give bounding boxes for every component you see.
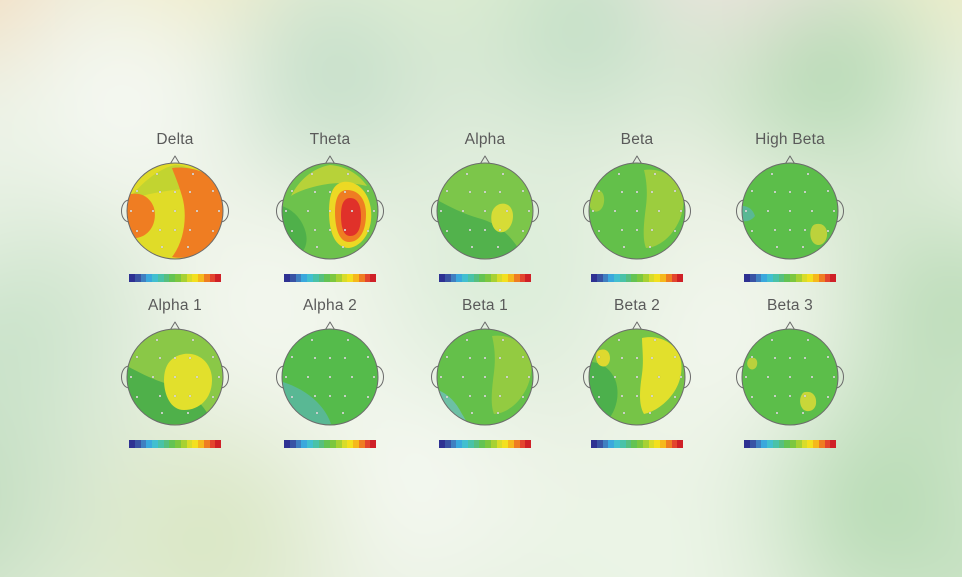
eeg-topomap-page: DeltaThetaAlphaBetaHigh BetaAlpha 1Alpha… bbox=[0, 0, 962, 577]
electrode-dot-f4 bbox=[189, 357, 191, 359]
electrode-dot-t5 bbox=[751, 396, 753, 398]
electrode-dot-f3 bbox=[469, 191, 471, 193]
electrode-dot-f4 bbox=[499, 357, 501, 359]
electrode-dot-o1 bbox=[316, 412, 318, 414]
electrode-dot-fp1 bbox=[466, 339, 468, 341]
electrode-dot-t4 bbox=[218, 376, 220, 378]
topomap-head-high-beta bbox=[731, 152, 849, 270]
electrode-dot-cz bbox=[329, 210, 331, 212]
electrode-dot-t3 bbox=[592, 210, 594, 212]
electrode-dot-t4 bbox=[528, 210, 530, 212]
electrode-dot-t5 bbox=[598, 396, 600, 398]
electrode-dot-pz bbox=[484, 395, 486, 397]
electrode-dot-t3 bbox=[285, 210, 287, 212]
electrode-dot-f7 bbox=[291, 356, 293, 358]
electrode-dot-c4 bbox=[196, 210, 198, 212]
electrode-dot-t4 bbox=[833, 376, 835, 378]
electrode-dot-t6 bbox=[367, 230, 369, 232]
electrode-dot-f4 bbox=[344, 191, 346, 193]
electrode-dot-t5 bbox=[446, 230, 448, 232]
electrode-dot-p4 bbox=[344, 395, 346, 397]
electrode-dot-f4 bbox=[804, 357, 806, 359]
electrode-dot-o2 bbox=[497, 412, 499, 414]
topomap-cell-beta-3[interactable]: Beta 3 bbox=[710, 297, 870, 448]
electrode-dot-t5 bbox=[291, 396, 293, 398]
electrode-dot-t6 bbox=[522, 230, 524, 232]
electrode-dot-t5 bbox=[136, 230, 138, 232]
electrode-dot-fp1 bbox=[618, 173, 620, 175]
electrode-dot-f7 bbox=[291, 190, 293, 192]
electrode-dot-cz bbox=[636, 376, 638, 378]
electrode-dot-c4 bbox=[811, 376, 813, 378]
electrode-dot-t6 bbox=[212, 230, 214, 232]
electrode-dot-o2 bbox=[187, 246, 189, 248]
electrode-dot-c3 bbox=[462, 210, 464, 212]
electrode-dot-pz bbox=[174, 229, 176, 231]
electrode-dot-c4 bbox=[351, 210, 353, 212]
electrode-dot-f7 bbox=[136, 190, 138, 192]
colorbar-step-15 bbox=[830, 440, 836, 448]
topomap-title-beta: Beta bbox=[557, 131, 717, 149]
electrode-dot-fp1 bbox=[311, 339, 313, 341]
electrode-dot-f8 bbox=[367, 190, 369, 192]
electrode-dot-t3 bbox=[745, 376, 747, 378]
colorbar-beta bbox=[591, 274, 683, 282]
electrode-dot-fz bbox=[329, 191, 331, 193]
colorbar-beta-1 bbox=[439, 440, 531, 448]
topomap-head-wrap-beta bbox=[578, 152, 696, 270]
electrode-dot-o1 bbox=[776, 246, 778, 248]
electrode-dot-p3 bbox=[469, 229, 471, 231]
electrode-dot-p4 bbox=[651, 395, 653, 397]
electrode-dot-f7 bbox=[598, 190, 600, 192]
electrode-dot-f4 bbox=[189, 191, 191, 193]
topomap-title-alpha: Alpha bbox=[405, 131, 565, 149]
colorbar-theta bbox=[284, 274, 376, 282]
electrode-dot-o1 bbox=[316, 246, 318, 248]
electrode-dot-f4 bbox=[499, 191, 501, 193]
electrode-dot-fp1 bbox=[466, 173, 468, 175]
electrode-dot-t5 bbox=[291, 230, 293, 232]
electrode-dot-fz bbox=[484, 191, 486, 193]
electrode-dot-f4 bbox=[344, 357, 346, 359]
topomap-title-theta: Theta bbox=[250, 131, 410, 149]
electrode-dot-p3 bbox=[469, 395, 471, 397]
electrode-dot-t4 bbox=[680, 210, 682, 212]
electrode-dot-o2 bbox=[187, 412, 189, 414]
topomap-head-beta bbox=[578, 152, 696, 270]
electrode-dot-pz bbox=[484, 229, 486, 231]
electrode-dot-p3 bbox=[314, 229, 316, 231]
colorbar-step-15 bbox=[370, 440, 376, 448]
electrode-dot-cz bbox=[636, 210, 638, 212]
electrode-dot-fz bbox=[174, 191, 176, 193]
colorbar-alpha-1 bbox=[129, 440, 221, 448]
electrode-dot-f7 bbox=[136, 356, 138, 358]
electrode-dot-fp2 bbox=[807, 339, 809, 341]
electrode-dot-t3 bbox=[745, 210, 747, 212]
electrode-dot-c3 bbox=[462, 376, 464, 378]
electrode-dot-fp2 bbox=[502, 339, 504, 341]
electrode-dot-p4 bbox=[344, 229, 346, 231]
electrode-dot-p3 bbox=[159, 229, 161, 231]
electrode-dot-t5 bbox=[598, 230, 600, 232]
electrode-dot-f4 bbox=[804, 191, 806, 193]
electrode-dot-t6 bbox=[674, 396, 676, 398]
electrode-dot-f8 bbox=[522, 356, 524, 358]
electrode-dot-p4 bbox=[651, 229, 653, 231]
electrode-dot-cz bbox=[484, 376, 486, 378]
topomap-head-wrap-beta-1 bbox=[426, 318, 544, 436]
field-region-right-parietal-spot bbox=[800, 392, 816, 411]
electrode-dot-f3 bbox=[314, 357, 316, 359]
electrode-dot-f3 bbox=[621, 191, 623, 193]
electrode-dot-p3 bbox=[159, 395, 161, 397]
topomap-cell-theta[interactable]: Theta bbox=[250, 131, 410, 282]
topomap-cell-beta-1[interactable]: Beta 1 bbox=[405, 297, 565, 448]
electrode-dot-o2 bbox=[649, 412, 651, 414]
topomap-head-alpha bbox=[426, 152, 544, 270]
electrode-dot-pz bbox=[329, 229, 331, 231]
electrode-dot-fp2 bbox=[192, 339, 194, 341]
electrode-dot-cz bbox=[789, 376, 791, 378]
electrode-dot-t3 bbox=[440, 376, 442, 378]
electrode-dot-cz bbox=[484, 210, 486, 212]
electrode-dot-o2 bbox=[342, 246, 344, 248]
electrode-dot-t6 bbox=[522, 396, 524, 398]
topomap-head-wrap-beta-2 bbox=[578, 318, 696, 436]
topomap-cell-delta[interactable]: Delta bbox=[95, 131, 255, 282]
electrode-dot-p3 bbox=[621, 395, 623, 397]
electrode-dot-cz bbox=[174, 376, 176, 378]
electrode-dot-f4 bbox=[651, 191, 653, 193]
electrode-dot-f3 bbox=[621, 357, 623, 359]
electrode-dot-o1 bbox=[471, 412, 473, 414]
colorbar-step-15 bbox=[215, 274, 221, 282]
electrode-dot-f8 bbox=[522, 190, 524, 192]
electrode-dot-fp1 bbox=[618, 339, 620, 341]
topomap-title-high-beta: High Beta bbox=[710, 131, 870, 149]
electrode-dot-f4 bbox=[651, 357, 653, 359]
electrode-dot-t6 bbox=[212, 396, 214, 398]
colorbar-high-beta bbox=[744, 274, 836, 282]
electrode-dot-c3 bbox=[307, 210, 309, 212]
electrode-dot-fz bbox=[484, 357, 486, 359]
topomap-title-beta-1: Beta 1 bbox=[405, 297, 565, 315]
electrode-dot-fp2 bbox=[347, 173, 349, 175]
topomap-head-wrap-beta-3 bbox=[731, 318, 849, 436]
electrode-dot-t5 bbox=[136, 396, 138, 398]
topomap-head-wrap-alpha-1 bbox=[116, 318, 234, 436]
electrode-dot-t6 bbox=[674, 230, 676, 232]
electrode-dot-f7 bbox=[751, 190, 753, 192]
electrode-dot-c3 bbox=[152, 376, 154, 378]
electrode-dot-o1 bbox=[776, 412, 778, 414]
scalp-field-beta-2 bbox=[586, 329, 685, 425]
electrode-dot-t3 bbox=[592, 376, 594, 378]
electrode-dot-f3 bbox=[469, 357, 471, 359]
electrode-dot-fp2 bbox=[654, 173, 656, 175]
electrode-dot-o1 bbox=[471, 246, 473, 248]
colorbar-step-15 bbox=[370, 274, 376, 282]
electrode-dot-cz bbox=[789, 210, 791, 212]
electrode-dot-pz bbox=[174, 395, 176, 397]
electrode-dot-fp2 bbox=[192, 173, 194, 175]
topomap-cell-alpha-1[interactable]: Alpha 1 bbox=[95, 297, 255, 448]
electrode-dot-t4 bbox=[373, 376, 375, 378]
electrode-dot-p4 bbox=[804, 229, 806, 231]
electrode-dot-fz bbox=[789, 191, 791, 193]
electrode-dot-f7 bbox=[446, 190, 448, 192]
electrode-dot-f8 bbox=[212, 190, 214, 192]
topomap-head-beta-1 bbox=[426, 318, 544, 436]
electrode-dot-o2 bbox=[802, 412, 804, 414]
electrode-dot-t4 bbox=[528, 376, 530, 378]
electrode-dot-c4 bbox=[196, 376, 198, 378]
electrode-dot-c4 bbox=[658, 210, 660, 212]
topomap-head-theta bbox=[271, 152, 389, 270]
electrode-dot-f3 bbox=[159, 357, 161, 359]
electrode-dot-pz bbox=[636, 395, 638, 397]
topomap-title-alpha-2: Alpha 2 bbox=[250, 297, 410, 315]
electrode-dot-fp2 bbox=[807, 173, 809, 175]
electrode-dot-c4 bbox=[506, 210, 508, 212]
electrode-dot-fp1 bbox=[156, 339, 158, 341]
electrode-dot-o2 bbox=[649, 246, 651, 248]
electrode-dot-t3 bbox=[130, 376, 132, 378]
electrode-dot-t4 bbox=[373, 210, 375, 212]
electrode-dot-p3 bbox=[621, 229, 623, 231]
topomap-cell-alpha[interactable]: Alpha bbox=[405, 131, 565, 282]
electrode-dot-pz bbox=[329, 395, 331, 397]
electrode-dot-fp1 bbox=[311, 173, 313, 175]
electrode-dot-o1 bbox=[623, 412, 625, 414]
topomap-grid: DeltaThetaAlphaBetaHigh BetaAlpha 1Alpha… bbox=[0, 0, 962, 577]
electrode-dot-t6 bbox=[827, 396, 829, 398]
electrode-dot-fz bbox=[789, 357, 791, 359]
electrode-dot-c3 bbox=[307, 376, 309, 378]
topomap-title-delta: Delta bbox=[95, 131, 255, 149]
electrode-dot-f8 bbox=[212, 356, 214, 358]
electrode-dot-fz bbox=[636, 191, 638, 193]
topomap-cell-alpha-2[interactable]: Alpha 2 bbox=[250, 297, 410, 448]
electrode-dot-fp2 bbox=[502, 173, 504, 175]
electrode-dot-c3 bbox=[767, 210, 769, 212]
electrode-dot-fz bbox=[636, 357, 638, 359]
electrode-dot-p4 bbox=[499, 229, 501, 231]
electrode-dot-t4 bbox=[218, 210, 220, 212]
electrode-dot-p4 bbox=[189, 229, 191, 231]
electrode-dot-f3 bbox=[774, 357, 776, 359]
electrode-dot-c3 bbox=[614, 376, 616, 378]
colorbar-beta-3 bbox=[744, 440, 836, 448]
topomap-head-wrap-high-beta bbox=[731, 152, 849, 270]
electrode-dot-cz bbox=[174, 210, 176, 212]
topomap-head-wrap-alpha-2 bbox=[271, 318, 389, 436]
topomap-cell-beta-2[interactable]: Beta 2 bbox=[557, 297, 717, 448]
colorbar-beta-2 bbox=[591, 440, 683, 448]
electrode-dot-c4 bbox=[658, 376, 660, 378]
topomap-title-beta-2: Beta 2 bbox=[557, 297, 717, 315]
colorbar-step-15 bbox=[215, 440, 221, 448]
topomap-title-beta-3: Beta 3 bbox=[710, 297, 870, 315]
electrode-dot-fp1 bbox=[771, 339, 773, 341]
electrode-dot-c3 bbox=[767, 376, 769, 378]
electrode-dot-f3 bbox=[774, 191, 776, 193]
electrode-dot-f8 bbox=[674, 190, 676, 192]
electrode-dot-o2 bbox=[802, 246, 804, 248]
electrode-dot-f8 bbox=[367, 356, 369, 358]
electrode-dot-fz bbox=[329, 357, 331, 359]
colorbar-delta bbox=[129, 274, 221, 282]
electrode-dot-t5 bbox=[751, 230, 753, 232]
electrode-dot-f7 bbox=[446, 356, 448, 358]
colorbar-alpha bbox=[439, 274, 531, 282]
colorbar-step-15 bbox=[525, 440, 531, 448]
topomap-title-alpha-1: Alpha 1 bbox=[95, 297, 255, 315]
topomap-head-alpha-1 bbox=[116, 318, 234, 436]
colorbar-step-15 bbox=[525, 274, 531, 282]
colorbar-step-15 bbox=[830, 274, 836, 282]
electrode-dot-p4 bbox=[499, 395, 501, 397]
topomap-head-delta bbox=[116, 152, 234, 270]
electrode-dot-t3 bbox=[440, 210, 442, 212]
electrode-dot-o1 bbox=[161, 412, 163, 414]
electrode-dot-t5 bbox=[446, 396, 448, 398]
electrode-dot-pz bbox=[789, 229, 791, 231]
electrode-dot-p3 bbox=[774, 229, 776, 231]
electrode-dot-f3 bbox=[159, 191, 161, 193]
electrode-dot-fp2 bbox=[347, 339, 349, 341]
electrode-dot-o2 bbox=[497, 246, 499, 248]
electrode-dot-fp1 bbox=[771, 173, 773, 175]
topomap-head-wrap-delta bbox=[116, 152, 234, 270]
electrode-dot-o1 bbox=[623, 246, 625, 248]
electrode-dot-cz bbox=[329, 376, 331, 378]
electrode-dot-f8 bbox=[827, 190, 829, 192]
electrode-dot-c3 bbox=[152, 210, 154, 212]
electrode-dot-f7 bbox=[751, 356, 753, 358]
electrode-dot-f8 bbox=[827, 356, 829, 358]
electrode-dot-c3 bbox=[614, 210, 616, 212]
electrode-dot-o1 bbox=[161, 246, 163, 248]
electrode-dot-f7 bbox=[598, 356, 600, 358]
electrode-dot-t4 bbox=[833, 210, 835, 212]
colorbar-alpha-2 bbox=[284, 440, 376, 448]
electrode-dot-t6 bbox=[367, 396, 369, 398]
electrode-dot-c4 bbox=[351, 376, 353, 378]
topomap-head-wrap-alpha bbox=[426, 152, 544, 270]
electrode-dot-fp1 bbox=[156, 173, 158, 175]
electrode-dot-p4 bbox=[804, 395, 806, 397]
electrode-dot-pz bbox=[789, 395, 791, 397]
topomap-head-beta-2 bbox=[578, 318, 696, 436]
electrode-dot-p3 bbox=[314, 395, 316, 397]
electrode-dot-fp2 bbox=[654, 339, 656, 341]
electrode-dot-o2 bbox=[342, 412, 344, 414]
electrode-dot-t4 bbox=[680, 376, 682, 378]
electrode-dot-p4 bbox=[189, 395, 191, 397]
electrode-dot-t6 bbox=[827, 230, 829, 232]
electrode-dot-t3 bbox=[130, 210, 132, 212]
electrode-dot-f8 bbox=[674, 356, 676, 358]
topomap-head-wrap-theta bbox=[271, 152, 389, 270]
electrode-dot-c4 bbox=[811, 210, 813, 212]
colorbar-step-15 bbox=[677, 440, 683, 448]
topomap-cell-beta[interactable]: Beta bbox=[557, 131, 717, 282]
electrode-dot-t3 bbox=[285, 376, 287, 378]
topomap-head-alpha-2 bbox=[271, 318, 389, 436]
colorbar-step-15 bbox=[677, 274, 683, 282]
electrode-dot-p3 bbox=[774, 395, 776, 397]
electrode-dot-pz bbox=[636, 229, 638, 231]
electrode-dot-fz bbox=[174, 357, 176, 359]
topomap-head-beta-3 bbox=[731, 318, 849, 436]
electrode-dot-c4 bbox=[506, 376, 508, 378]
electrode-dot-f3 bbox=[314, 191, 316, 193]
topomap-cell-high-beta[interactable]: High Beta bbox=[710, 131, 870, 282]
